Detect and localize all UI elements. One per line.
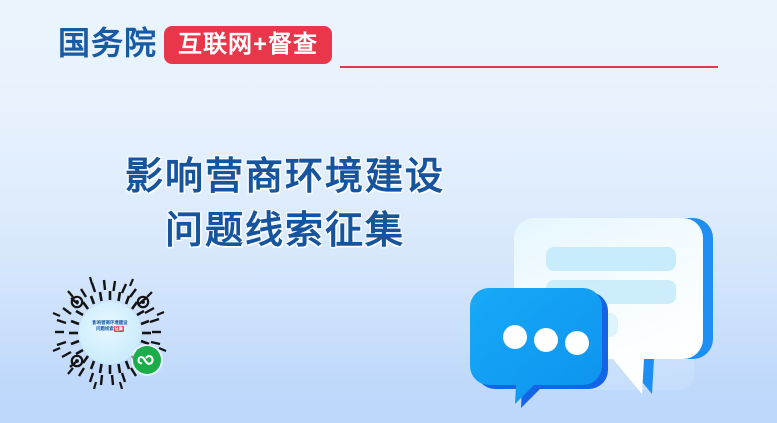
typing-dot-1 [503,325,527,349]
banner-root: 国务院 互联网+督查 影响营商环境建设 问题线索征集 [0,0,777,423]
page-title-line-2: 问题线索征集 [60,204,510,258]
internet-plus-supervision-badge: 互联网+督查 [164,26,332,64]
header-divider-line [340,66,718,68]
banner-header: 国务院 互联网+督查 [0,0,777,88]
chat-bubbles-illustration [470,185,777,423]
qr-center-label-badge: 征集 [114,326,124,332]
wechat-miniprogram-qr-code[interactable]: 影响营商环境建设 问题线索征集 [50,273,170,393]
qr-center-label: 影响营商环境建设 问题线索征集 [81,320,139,332]
page-title: 影响营商环境建设 问题线索征集 [60,150,510,258]
typing-dot-2 [534,328,558,352]
typing-dot-3 [565,331,589,355]
qr-center-label-line-2-text: 问题线索 [96,326,114,331]
big-bubble-text-line-1 [546,247,676,271]
qr-center-disc [79,302,141,364]
gov-logo-text: 国务院 [58,24,157,62]
page-title-line-1: 影响营商环境建设 [60,150,510,204]
wechat-miniprogram-icon [133,346,161,374]
qr-center-label-line-2: 问题线索征集 [81,326,139,332]
